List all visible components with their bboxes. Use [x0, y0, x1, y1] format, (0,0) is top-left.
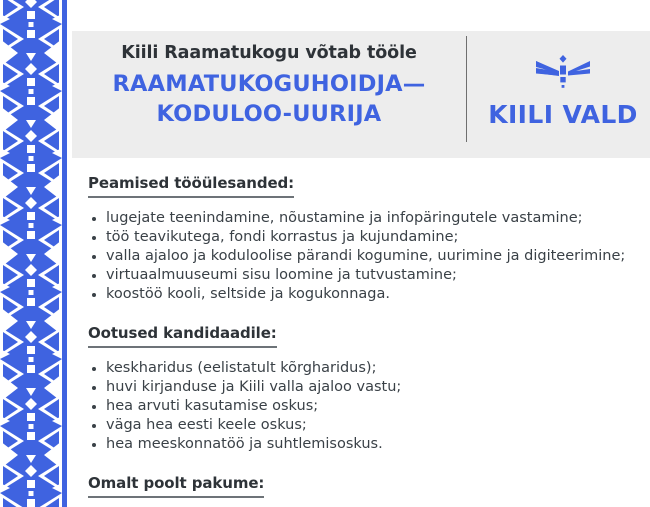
list-item: hea arvuti kasutamise oskus;: [88, 398, 628, 415]
header-panel: Kiili Raamatukogu võtab tööle RAAMATUKOG…: [72, 31, 650, 158]
section-heading-offer: Omalt poolt pakume:: [88, 474, 264, 498]
list-item: töö teavikutega, fondi korrastus ja kuju…: [88, 229, 628, 246]
employer-line: Kiili Raamatukogu võtab tööle: [121, 43, 416, 63]
list-item: koostöö kooli, seltside ja kogukonnaga.: [88, 286, 628, 303]
list-item: valla ajaloo ja koduloolise pärandi kogu…: [88, 248, 628, 265]
header-title-block: Kiili Raamatukogu võtab tööle RAAMATUKOG…: [72, 31, 466, 158]
section-tasks: Peamised tööülesanded: lugejate teeninda…: [88, 173, 628, 304]
list-item: keskharidus (eelistatult kõrgharidus);: [88, 360, 628, 377]
job-title-line-2: KODULOO-UURIJA: [112, 100, 425, 130]
expectations-list: keskharidus (eelistatult kõrgharidus); h…: [88, 360, 628, 454]
folk-pattern-rail: [62, 0, 67, 507]
section-heading-expectations: Ootused kandidaadile:: [88, 324, 277, 348]
list-item: huvi kirjanduse ja Kiili valla ajaloo va…: [88, 379, 628, 396]
page-title: RAAMATUKOGUHOIDJA— KODULOO-UURIJA: [112, 70, 425, 129]
list-item: hea meeskonnatöö ja suhtlemisoskus.: [88, 436, 628, 453]
folk-pattern-border: [0, 0, 68, 507]
kiili-vald-logo: KIILI VALD: [476, 31, 650, 158]
section-expectations: Ootused kandidaadile: keskharidus (eelis…: [88, 323, 628, 454]
section-offer: Omalt poolt pakume:: [88, 473, 628, 498]
tasks-list: lugejate teenindamine, nõustamine ja inf…: [88, 210, 628, 304]
list-item: väga hea eesti keele oskus;: [88, 417, 628, 434]
list-item: lugejate teenindamine, nõustamine ja inf…: [88, 210, 628, 227]
section-heading-tasks: Peamised tööülesanded:: [88, 174, 294, 198]
job-title-line-1: RAAMATUKOGUHOIDJA—: [112, 70, 425, 100]
header-divider: [466, 36, 467, 142]
logo-wordmark: KIILI VALD: [488, 100, 638, 129]
dragonfly-icon: [532, 53, 594, 93]
list-item: virtuaalmuuseumi sisu loomine ja tutvust…: [88, 267, 628, 284]
job-ad-body: Peamised tööülesanded: lugejate teeninda…: [88, 173, 628, 498]
